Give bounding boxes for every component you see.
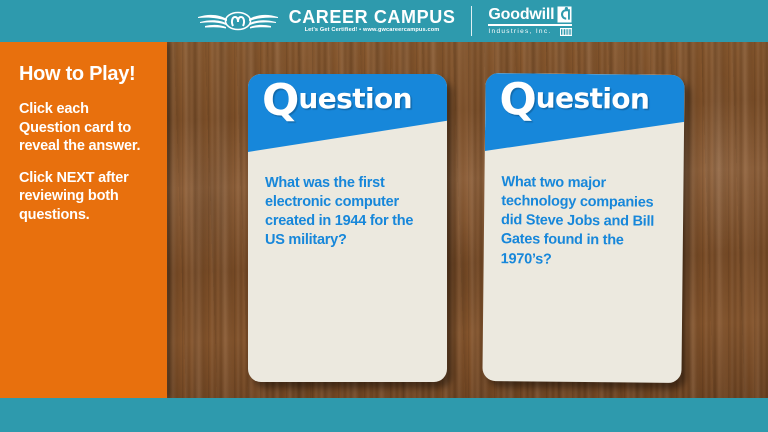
card-header-label-1: Question bbox=[262, 82, 412, 115]
card-header-initial-2: Q bbox=[499, 74, 536, 125]
card-header-initial-1: Q bbox=[262, 75, 298, 126]
goodwill-smiling-g-icon bbox=[557, 6, 572, 23]
instruction-paragraph-1: Click each Question card to reveal the a… bbox=[19, 100, 151, 156]
question-text-1: What was the first electronic computer c… bbox=[265, 174, 434, 251]
footer-bar bbox=[0, 398, 768, 432]
brand-tagline: Let's Get Certified! • www.gwcareercampu… bbox=[305, 28, 440, 34]
partner-name: Goodwill bbox=[488, 7, 554, 23]
brand-divider bbox=[471, 6, 472, 36]
winged-emblem-icon bbox=[196, 8, 280, 34]
brand-name: CAREER CAMPUS bbox=[289, 8, 456, 26]
goodwill-block: Goodwill Industries, Inc. bbox=[488, 6, 572, 36]
career-campus-block: CAREER CAMPUS Let's Get Certified! • www… bbox=[289, 8, 456, 34]
question-card-1[interactable]: Question What was the first electronic c… bbox=[248, 74, 447, 382]
instructions-panel: How to Play! Click each Question card to… bbox=[0, 42, 167, 398]
card-header-label-2: Question bbox=[499, 81, 649, 116]
app-header: CAREER CAMPUS Let's Get Certified! • www… bbox=[0, 0, 768, 42]
card-header-rest-1: uestion bbox=[298, 82, 412, 115]
card-header-rest-2: uestion bbox=[536, 81, 650, 115]
question-text-2: What two major technology companies did … bbox=[501, 173, 671, 270]
partner-underline bbox=[488, 24, 572, 26]
slide-canvas: CAREER CAMPUS Let's Get Certified! • www… bbox=[0, 0, 768, 432]
brand-lockup: CAREER CAMPUS Let's Get Certified! • www… bbox=[196, 6, 573, 36]
question-card-2[interactable]: Question What two major technology compa… bbox=[482, 73, 684, 383]
panel-title: How to Play! bbox=[19, 64, 151, 85]
partner-subtitle: Industries, Inc. bbox=[488, 29, 551, 36]
goodwill-badge-icon bbox=[560, 28, 572, 36]
instruction-paragraph-2: Click NEXT after reviewing both question… bbox=[19, 169, 151, 225]
